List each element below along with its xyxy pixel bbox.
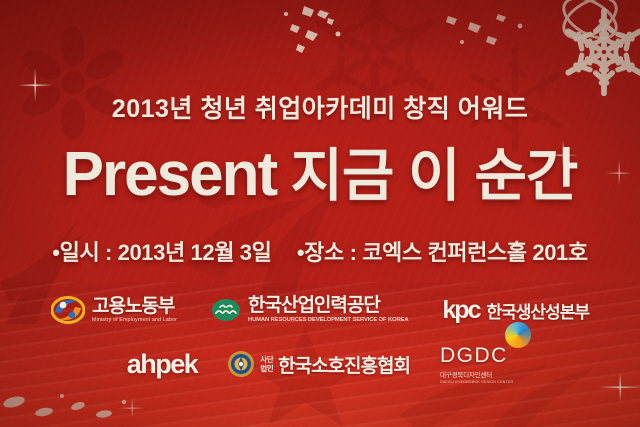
- sponsor-korea-soho: 사단 법인 한국소호진흥협회: [227, 350, 410, 378]
- headline-english: Present: [63, 140, 276, 209]
- ministry-name-en: Ministry of Employment and Labor: [92, 318, 177, 323]
- soho-prefix: 사단 법인: [260, 355, 273, 374]
- dgdc-circle-gradient-icon: [505, 322, 531, 348]
- event-banner: 2013년 청년 취업아카데미 창직 어워드 Present 지금 이 순간 •…: [0, 0, 640, 427]
- event-date: •일시 : 2013년 12월 3일: [52, 240, 271, 265]
- circular-seal-emblem-icon: [227, 350, 255, 378]
- hrd-korea-wordmark: 한국산업인력공단 HUMAN RESOURCES DEVELOPMENT SER…: [248, 296, 408, 323]
- snow-bits-icon: [0, 388, 150, 427]
- headline-korean: 지금 이 순간: [290, 144, 577, 208]
- white-snowflake-icon: [554, 0, 626, 59]
- sponsor-kpc: kpc 한국생산성본부: [442, 296, 589, 325]
- swoosh-emblem-icon: [51, 296, 85, 324]
- hrd-korea-name-en: HUMAN RESOURCES DEVELOPMENT SERVICE OF K…: [248, 318, 408, 324]
- dgdc-wordmark: DGDC 대구경북디자인센터 DAEGU GYEONGBUK DESIGN CE…: [440, 344, 513, 385]
- snow-bits-icon: [268, 4, 388, 65]
- snowflake-motif-icon: [8, 18, 138, 148]
- dgdc-name-en-sub: DAEGU GYEONGBUK DESIGN CENTER: [440, 380, 513, 384]
- sponsor-ministry-of-employment-and-labor: 고용노동부 Ministry of Employment and Labor: [51, 296, 177, 324]
- ministry-wordmark: 고용노동부 Ministry of Employment and Labor: [92, 297, 177, 324]
- sponsor-hrd-korea: 한국산업인력공단 HUMAN RESOURCES DEVELOPMENT SER…: [211, 296, 408, 323]
- dgdc-name-en: DGDC: [440, 344, 508, 368]
- kpc-wordmark-icon: kpc: [442, 296, 479, 325]
- sponsor-dgdc: DGDC 대구경북디자인센터 DAEGU GYEONGBUK DESIGN CE…: [440, 344, 513, 385]
- event-kicker: 2013년 청년 취업아카데미 창직 어워드: [0, 89, 640, 125]
- kpc-name-ko: 한국생산성본부: [487, 298, 589, 323]
- green-oval-emblem-icon: [211, 298, 241, 322]
- ahpek-wordmark-icon: ahpek: [127, 349, 198, 380]
- soho-prefix-line2: 법인: [260, 364, 273, 373]
- sparkle-icon: [120, 398, 144, 418]
- soho-name-ko: 한국소호진흥협회: [278, 351, 410, 378]
- snow-bits-icon: [440, 8, 550, 63]
- sponsor-row-secondary: ahpek 사단 법인 한국소호진흥협회 DGDC 대구경북디자인센터 DAEG…: [0, 342, 640, 386]
- sponsor-ahpek: ahpek: [127, 349, 198, 380]
- event-headline: Present 지금 이 순간: [0, 142, 640, 207]
- dgdc-name-ko: 대구경북디자인센터: [440, 369, 492, 379]
- soho-prefix-line1: 사단: [260, 355, 273, 364]
- ministry-name-ko: 고용노동부: [92, 297, 177, 316]
- event-meta: •일시 : 2013년 12월 3일 •장소 : 코엑스 컨퍼런스홀 201호: [0, 235, 640, 267]
- sponsor-row-primary: 고용노동부 Ministry of Employment and Labor 한…: [0, 290, 640, 330]
- event-place: •장소 : 코엑스 컨퍼런스홀 201호: [297, 240, 588, 265]
- hrd-korea-name-ko: 한국산업인력공단: [248, 296, 408, 315]
